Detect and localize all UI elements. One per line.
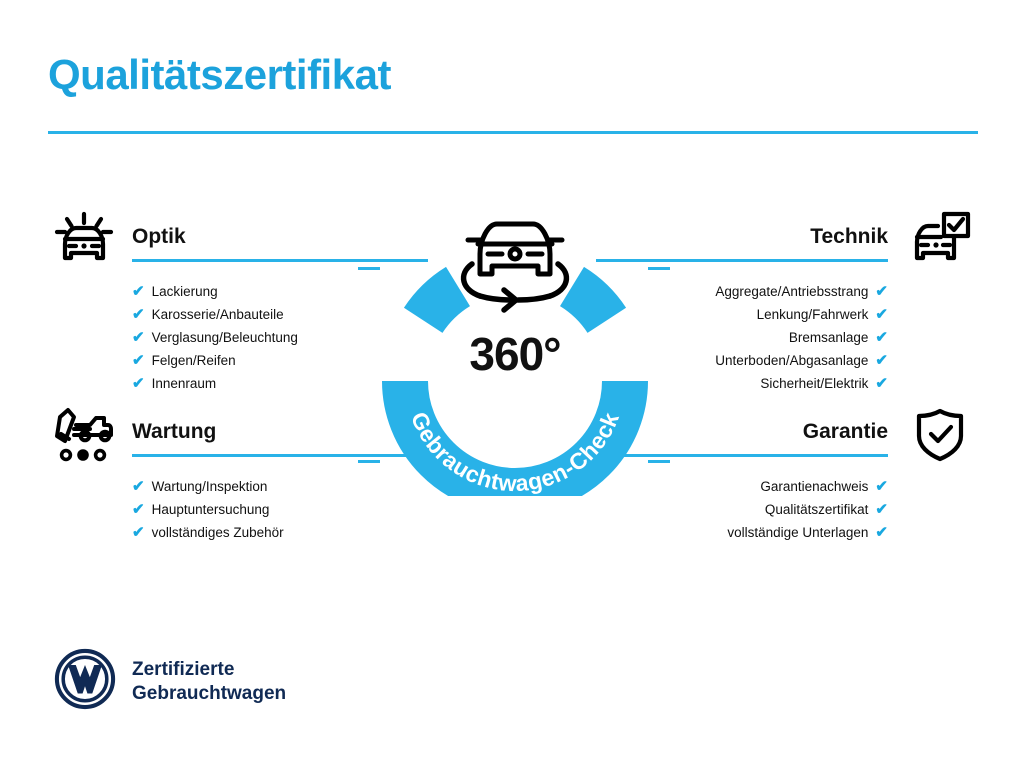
section-wartung: Wartung ✔Wartung/Inspektion ✔Hauptunters… [48, 417, 428, 544]
check-icon: ✔ [875, 375, 888, 392]
check-icon: ✔ [875, 352, 888, 369]
check-icon: ✔ [132, 306, 145, 323]
list-item: Qualitätszertifikat✔ [596, 498, 976, 521]
check-icon: ✔ [132, 375, 145, 392]
list-item-label: Felgen/Reifen [152, 353, 236, 368]
list-item-label: Wartung/Inspektion [152, 479, 268, 494]
vw-logo-line1: Zertifizierte [132, 659, 234, 680]
list-item-label: Sicherheit/Elektrik [760, 376, 868, 391]
list-item: vollständige Unterlagen✔ [596, 521, 976, 544]
check-icon: ✔ [132, 478, 145, 495]
check-icon: ✔ [875, 524, 888, 541]
list-item: ✔vollständiges Zubehör [48, 521, 428, 544]
list-item-label: Garantienachweis [760, 479, 868, 494]
check-icon: ✔ [132, 524, 145, 541]
badge-360-gebrauchtwagen-check: Gebrauchtwagen-Check [372, 196, 658, 496]
section-heading-optik: Optik [48, 222, 428, 266]
list-item-label: Bremsanlage [789, 330, 869, 345]
check-icon: ✔ [132, 283, 145, 300]
vw-certified-logo: Zertifizierte Gebrauchtwagen [54, 648, 286, 715]
list-item-label: vollständiges Zubehör [152, 525, 284, 540]
list-item: ✔Hauptuntersuchung [48, 498, 428, 521]
section-heading-wartung: Wartung [48, 417, 428, 461]
list-item: ✔Wartung/Inspektion [48, 475, 428, 498]
list-item-label: vollständige Unterlagen [727, 525, 868, 540]
title-divider [48, 131, 978, 134]
list-item: ✔Felgen/Reifen [48, 349, 428, 372]
page-title: Qualitätszertifikat [48, 52, 391, 98]
check-icon: ✔ [875, 283, 888, 300]
vw-logo-icon [54, 648, 116, 715]
check-icon: ✔ [132, 352, 145, 369]
list-item-label: Lenkung/Fahrwerk [757, 307, 869, 322]
checklist-wartung: ✔Wartung/Inspektion ✔Hauptuntersuchung ✔… [48, 475, 428, 544]
check-icon: ✔ [875, 306, 888, 323]
list-item-label: Lackierung [152, 284, 218, 299]
check-icon: ✔ [875, 329, 888, 346]
list-item-label: Qualitätszertifikat [765, 502, 869, 517]
list-item: ✔Karosserie/Anbauteile [48, 303, 428, 326]
list-item-label: Hauptuntersuchung [152, 502, 270, 517]
checklist-optik: ✔Lackierung ✔Karosserie/Anbauteile ✔Verg… [48, 280, 428, 395]
list-item-label: Karosserie/Anbauteile [152, 307, 284, 322]
check-icon: ✔ [875, 478, 888, 495]
list-item: ✔Lackierung [48, 280, 428, 303]
certificate-page: Qualitätszertifikat [0, 0, 1024, 768]
vw-logo-line2: Gebrauchtwagen [132, 683, 286, 704]
list-item-label: Aggregate/Antriebsstrang [715, 284, 868, 299]
car-rotate-360-icon [464, 224, 567, 310]
list-item-label: Innenraum [152, 376, 217, 391]
check-icon: ✔ [132, 329, 145, 346]
list-item: ✔Innenraum [48, 372, 428, 395]
list-item: ✔Verglasung/Beleuchtung [48, 326, 428, 349]
check-icon: ✔ [875, 501, 888, 518]
check-icon: ✔ [132, 501, 145, 518]
list-item-label: Verglasung/Beleuchtung [152, 330, 298, 345]
section-optik: Optik ✔Lackierung ✔Karosserie/Anbauteile… [48, 222, 428, 395]
list-item-label: Unterboden/Abgasanlage [715, 353, 868, 368]
vw-logo-text: Zertifizierte Gebrauchtwagen [132, 658, 286, 704]
